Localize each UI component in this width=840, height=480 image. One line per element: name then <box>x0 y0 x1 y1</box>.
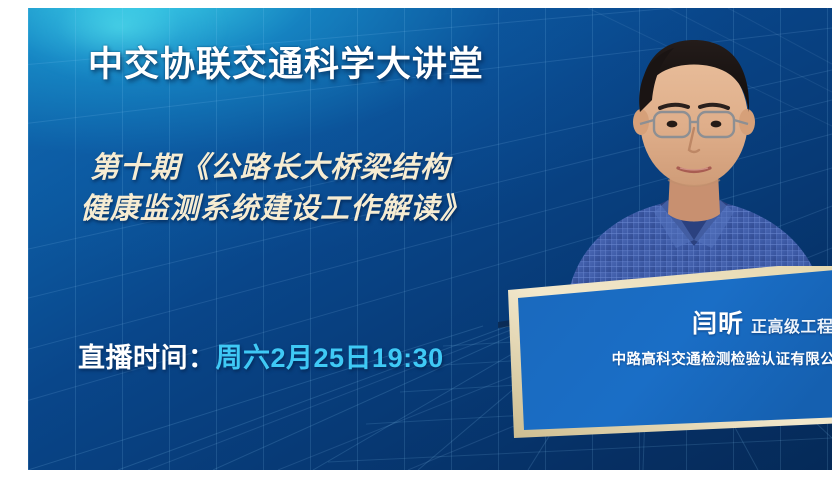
speaker-organization: 中路高科交通检测检验认证有限公司 <box>498 348 832 369</box>
live-time-label: 直播时间： <box>78 343 216 373</box>
poster-panel: 中交协联交通科学大讲堂 第十期《公路长大桥梁结构 健康监测系统建设工作解读》 直… <box>28 8 832 470</box>
page-title: 中交协联交通科学大讲堂 <box>88 36 484 87</box>
live-time-value: 周六2月25日19:30 <box>216 343 444 373</box>
speaker-portrait <box>556 8 832 308</box>
live-time: 直播时间：周六2月25日19:30 <box>78 336 444 375</box>
speaker-name-row: 闫昕正高级工程师 <box>498 304 832 340</box>
episode-subtitle: 第十期《公路长大桥梁结构 健康监测系统建设工作解读》 <box>90 148 560 230</box>
subtitle-line-1: 第十期《公路长大桥梁结构 <box>90 152 450 184</box>
speaker-name: 闫昕 <box>692 310 744 338</box>
poster-stage: 中交协联交通科学大讲堂 第十期《公路长大桥梁结构 健康监测系统建设工作解读》 直… <box>0 0 840 480</box>
subtitle-line-2: 健康监测系统建设工作解读》 <box>80 189 560 230</box>
speaker-role: 正高级工程师 <box>751 319 832 336</box>
